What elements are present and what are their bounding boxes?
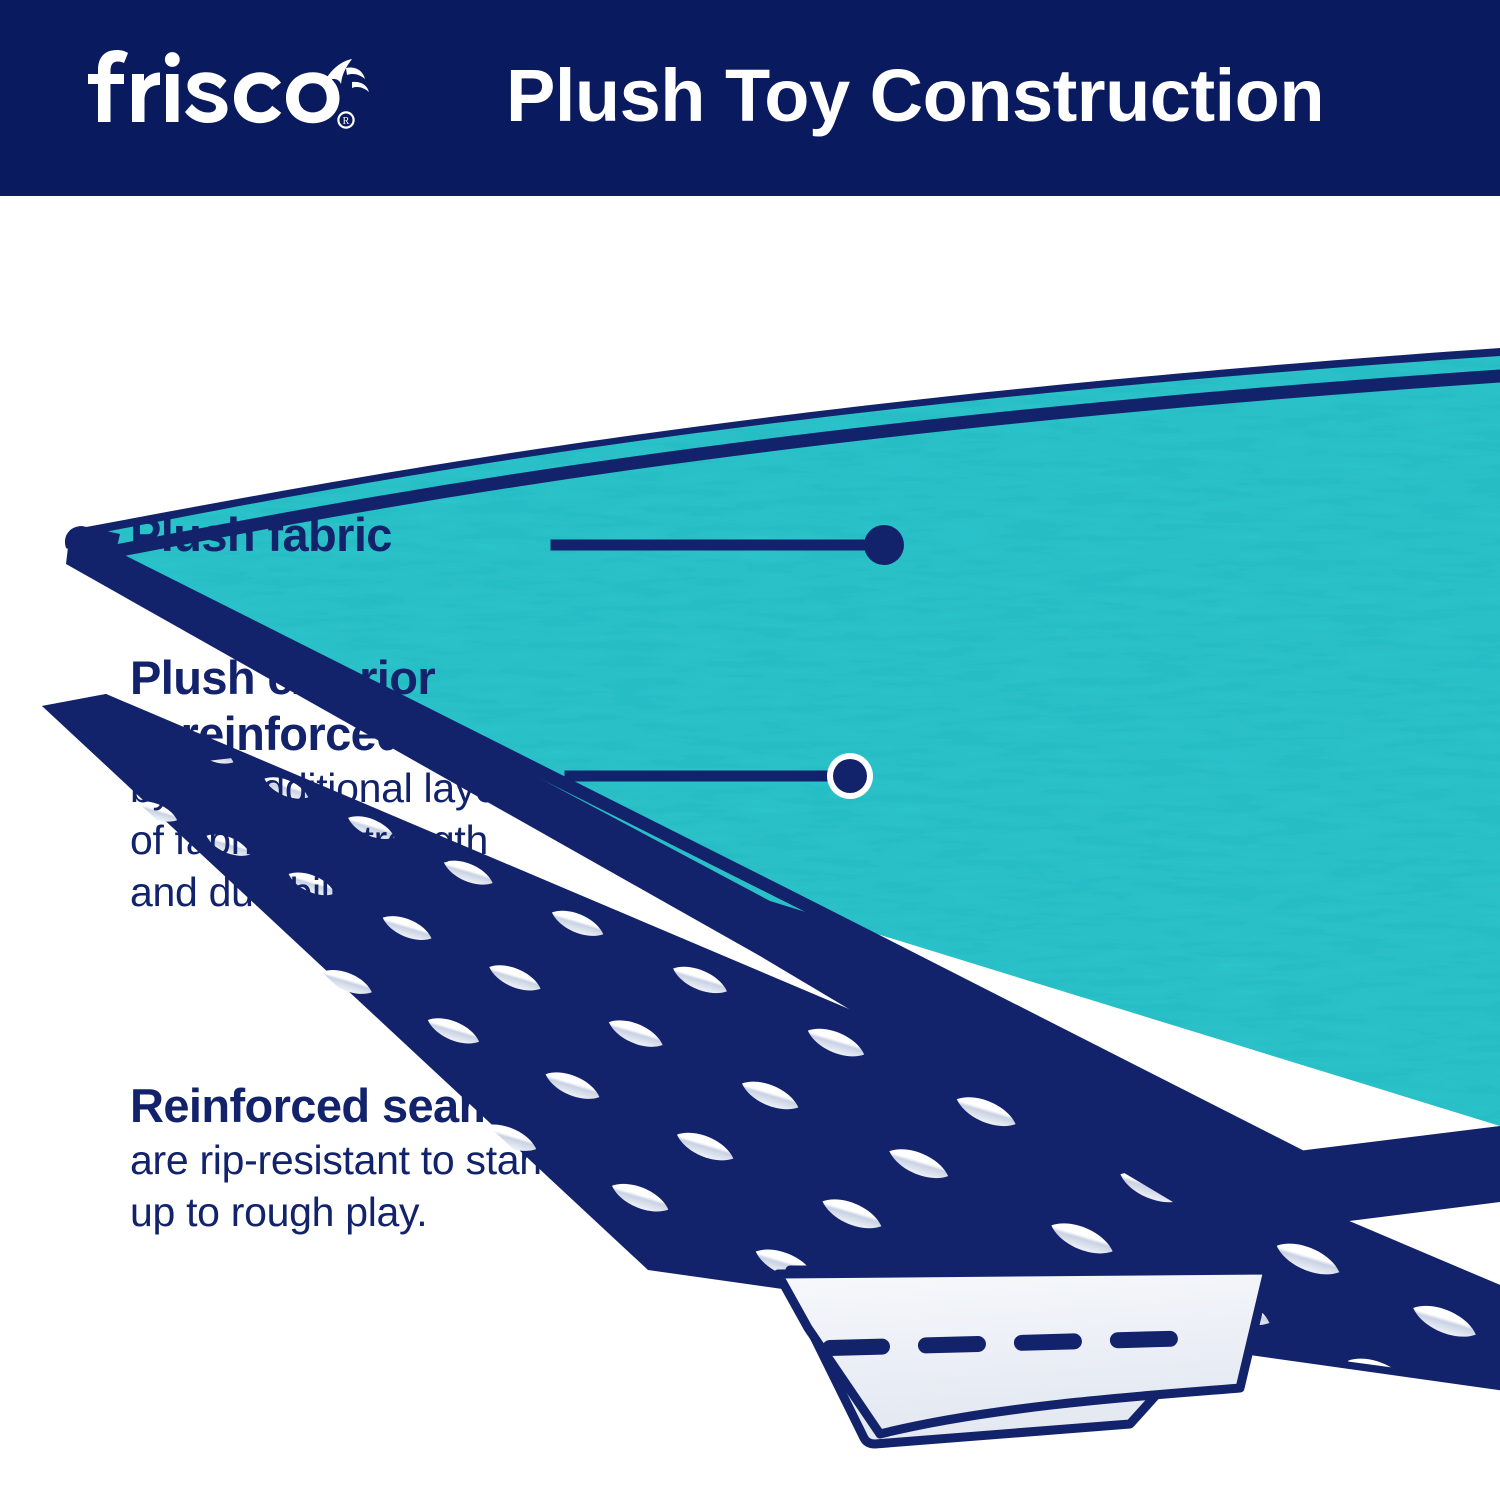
seam-flap-layer (778, 1270, 1268, 1444)
frisco-wordmark-icon: R (84, 46, 384, 146)
callout-plush-fabric: Plush fabric (130, 507, 392, 563)
leader-dot-1 (864, 525, 904, 565)
page-title: Plush Toy Construction (506, 48, 1324, 144)
frisco-logo: R (84, 46, 384, 146)
callout-reinforced-seams: Reinforced seams are rip-resistant to st… (130, 1078, 564, 1238)
header-bar: R Plush Toy Construction (0, 0, 1500, 196)
svg-text:R: R (343, 116, 350, 127)
callout-plush-exterior: Plush exterior is reinforced by an addit… (130, 650, 511, 918)
seam-stitch-dashes (830, 1338, 1200, 1348)
callout-body-line: by an additional layer (130, 762, 511, 814)
callout-body-line: and durability. (130, 866, 511, 918)
callout-heading: Plush fabric (130, 507, 392, 563)
callout-heading-line: Plush exterior (130, 650, 511, 706)
infographic-page: R Plush Toy Construction (0, 0, 1500, 1500)
callout-body-line: are rip-resistant to stand (130, 1134, 564, 1186)
callout-heading: Reinforced seams (130, 1078, 564, 1134)
callout-body-line: of fabric for strength (130, 814, 511, 866)
callout-body-line: up to rough play. (130, 1186, 564, 1238)
callout-heading-line: is reinforced (130, 706, 511, 762)
leader-dot-2 (833, 759, 867, 793)
leader-dot-3 (912, 1100, 952, 1140)
